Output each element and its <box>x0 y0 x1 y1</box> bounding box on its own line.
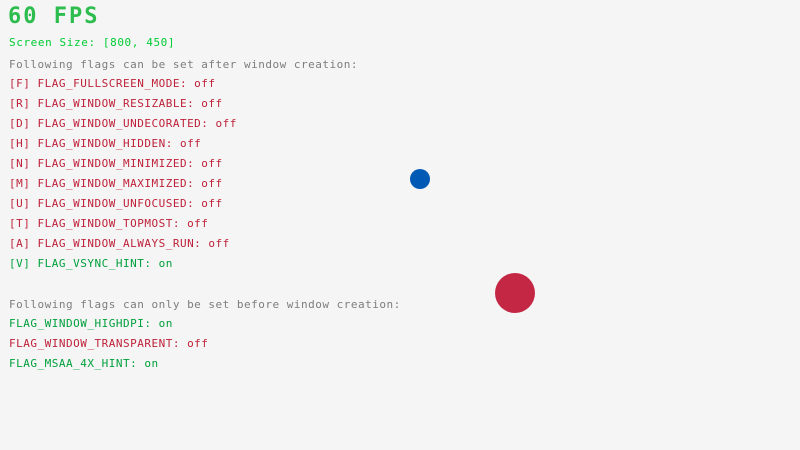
flag-row-window-always-run[interactable]: [A] FLAG_WINDOW_ALWAYS_RUN: off <box>9 238 230 250</box>
screen-size-label: Screen Size: [800, 450] <box>9 37 175 49</box>
raylib-window-canvas[interactable]: 60 FPS Screen Size: [800, 450] Following… <box>0 0 800 450</box>
flag-row-fullscreen-mode[interactable]: [F] FLAG_FULLSCREEN_MODE: off <box>9 78 216 90</box>
red-circle <box>495 273 535 313</box>
flag-row-window-hidden[interactable]: [H] FLAG_WINDOW_HIDDEN: off <box>9 138 201 150</box>
flag-row-window-resizable[interactable]: [R] FLAG_WINDOW_RESIZABLE: off <box>9 98 223 110</box>
flag-row-window-highdpi: FLAG_WINDOW_HIGHDPI: on <box>9 318 173 330</box>
blue-circle <box>410 169 430 189</box>
flag-row-window-maximized[interactable]: [M] FLAG_WINDOW_MAXIMIZED: off <box>9 178 223 190</box>
section-header-before-creation: Following flags can only be set before w… <box>9 299 401 311</box>
flag-row-window-undecorated[interactable]: [D] FLAG_WINDOW_UNDECORATED: off <box>9 118 237 130</box>
flag-row-window-unfocused[interactable]: [U] FLAG_WINDOW_UNFOCUSED: off <box>9 198 223 210</box>
flag-row-vsync-hint[interactable]: [V] FLAG_VSYNC_HINT: on <box>9 258 173 270</box>
flag-row-window-transparent: FLAG_WINDOW_TRANSPARENT: off <box>9 338 208 350</box>
flag-row-msaa-4x-hint: FLAG_MSAA_4X_HINT: on <box>9 358 159 370</box>
fps-counter: 60 FPS <box>8 6 99 28</box>
section-header-after-creation: Following flags can be set after window … <box>9 59 358 71</box>
flag-row-window-topmost[interactable]: [T] FLAG_WINDOW_TOPMOST: off <box>9 218 208 230</box>
flag-row-window-minimized[interactable]: [N] FLAG_WINDOW_MINIMIZED: off <box>9 158 223 170</box>
